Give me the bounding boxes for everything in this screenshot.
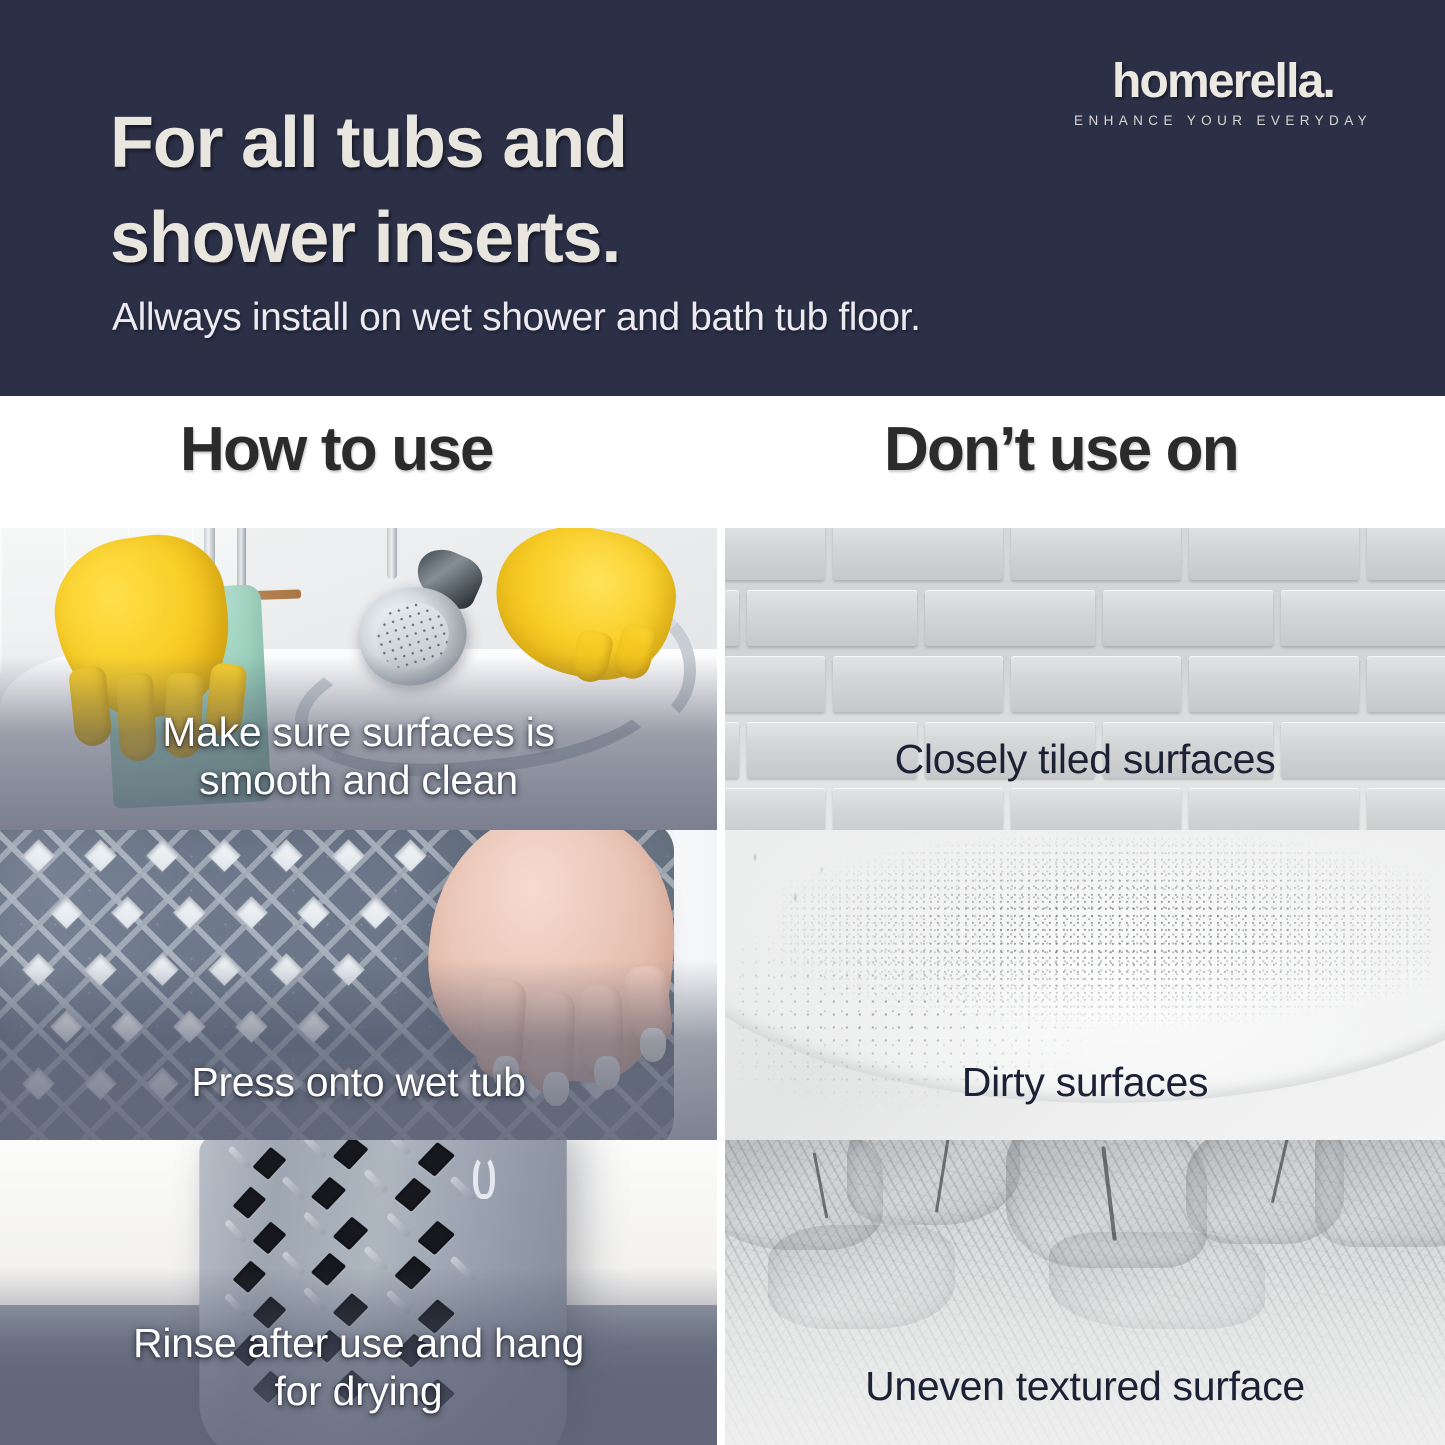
photo-grid: Make sure surfaces is smooth and clean — [0, 528, 1445, 1445]
photo-grimy-speckled-tub-surface: Dirty surfaces — [725, 830, 1445, 1140]
how-to-use-step-3-panel: Rinse after use and hang for drying — [0, 1140, 717, 1445]
photo-gloved-hands-cleaning-showerhead: Make sure surfaces is smooth and clean — [0, 528, 717, 830]
photo-mat-hanging-to-dry: Rinse after use and hang for drying — [0, 1140, 717, 1445]
photo-hand-pressing-bath-mat: Press onto wet tub — [0, 830, 717, 1140]
section-heading-row: How to use Don’t use on — [0, 396, 1445, 528]
logo-tagline: ENHANCE YOUR EVERYDAY — [1074, 113, 1372, 128]
header-banner: For all tubs and shower inserts. Allways… — [0, 0, 1445, 396]
page-title: For all tubs and shower inserts. — [110, 96, 890, 286]
dont-use-on-item-2-panel: Dirty surfaces — [725, 830, 1445, 1140]
caption-scrim — [0, 960, 717, 1140]
caption-dont-use-on-item-1: Closely tiled surfaces — [725, 736, 1445, 784]
caption-dont-use-on-item-3: Uneven textured surface — [725, 1363, 1445, 1411]
headline-line-1: For all tubs and — [110, 96, 890, 191]
section-title-dont-use-on: Don’t use on — [884, 414, 1238, 485]
brand-logo: homerella. ENHANCE YOUR EVERYDAY — [1074, 58, 1372, 128]
caption-how-to-use-step-2: Press onto wet tub — [0, 1059, 717, 1107]
headline-line-2: shower inserts. — [110, 191, 890, 286]
page-subtitle: Allways install on wet shower and bath t… — [112, 296, 1262, 340]
suction-hook-icon — [473, 1155, 495, 1199]
photo-rough-stone-texture: Uneven textured surface — [725, 1140, 1445, 1445]
dont-use-on-item-1-panel: Closely tiled surfaces — [725, 528, 1445, 830]
caption-how-to-use-step-1: Make sure surfaces is smooth and clean — [0, 709, 717, 805]
how-to-use-step-1-panel: Make sure surfaces is smooth and clean — [0, 528, 717, 830]
caption-dont-use-on-item-2: Dirty surfaces — [725, 1059, 1445, 1107]
dont-use-on-item-3-panel: Uneven textured surface — [725, 1140, 1445, 1445]
caption-how-to-use-step-3: Rinse after use and hang for drying — [0, 1320, 717, 1416]
how-to-use-step-2-panel: Press onto wet tub — [0, 830, 717, 1140]
section-title-how-to-use: How to use — [180, 414, 493, 485]
infographic-page: For all tubs and shower inserts. Allways… — [0, 0, 1445, 1445]
logo-wordmark: homerella. — [1074, 58, 1372, 106]
photo-white-subway-tile-wall: Closely tiled surfaces — [725, 528, 1445, 830]
